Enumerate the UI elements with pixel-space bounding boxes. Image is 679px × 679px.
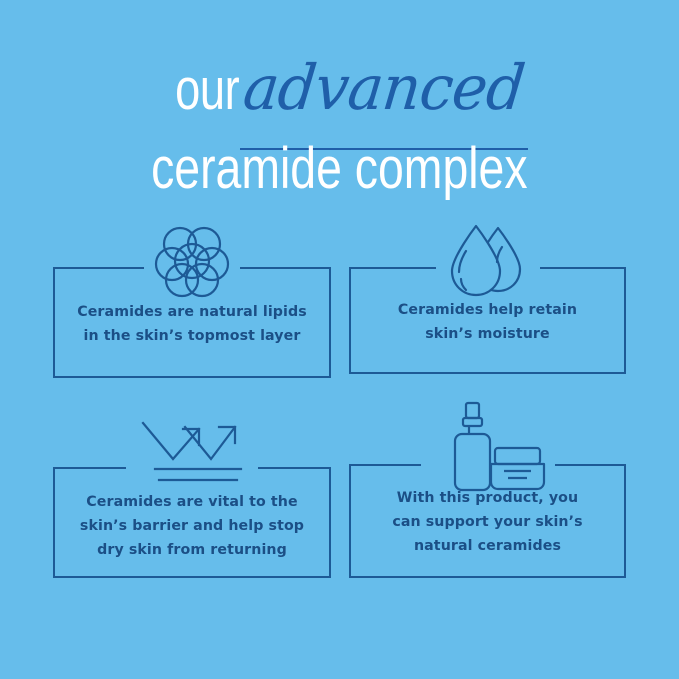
card-text-block: Ceramides are vital to the skin’s barrie…: [61, 490, 323, 562]
barrier-deflect-arrows-icon: [133, 415, 251, 491]
benefit-card-moisture: Ceramides help retain skin’s moisture: [349, 267, 626, 374]
card-text-line: Ceramides are natural lipids: [61, 300, 323, 324]
headline-text-ceramide-complex: ceramide complex: [151, 138, 528, 200]
card-text-line: skin’s moisture: [357, 322, 618, 346]
water-droplets-icon: [442, 221, 534, 301]
benefit-card-lipids: Ceramides are natural lipids in the skin…: [53, 267, 331, 378]
card-text-block: Ceramides help retain skin’s moisture: [357, 298, 618, 346]
card-text-block: Ceramides are natural lipids in the skin…: [61, 300, 323, 348]
headline-line-2: ceramide complex: [0, 138, 679, 200]
card-text-block: With this product, you can support your …: [357, 486, 618, 558]
benefit-card-barrier: Ceramides are vital to the skin’s barrie…: [53, 467, 331, 578]
bottle-and-jar-icon: [429, 400, 547, 494]
cell-cluster-icon: [150, 222, 234, 300]
card-text-line: skin’s barrier and help stop: [61, 514, 323, 538]
card-text-line: Ceramides are vital to the: [61, 490, 323, 514]
page-title: ouradvanced ceramide complex: [0, 52, 679, 200]
benefit-card-product: With this product, you can support your …: [349, 464, 626, 578]
card-text-line: in the skin’s topmost layer: [61, 324, 323, 348]
headline-line-1: ouradvanced: [0, 52, 679, 124]
benefit-card-grid: Ceramides are natural lipids in the skin…: [53, 267, 626, 578]
card-text-line: can support your skin’s: [357, 510, 618, 534]
headline-script-wrapper: advanced: [238, 52, 530, 141]
headline-word-our: our: [176, 54, 240, 126]
headline-word-advanced: advanced: [240, 52, 528, 124]
card-text-line: Ceramides help retain: [357, 298, 618, 322]
ceramide-infographic-poster: ouradvanced ceramide complex: [0, 0, 679, 679]
card-text-line: dry skin from returning: [61, 538, 323, 562]
card-text-line: natural ceramides: [357, 534, 618, 558]
